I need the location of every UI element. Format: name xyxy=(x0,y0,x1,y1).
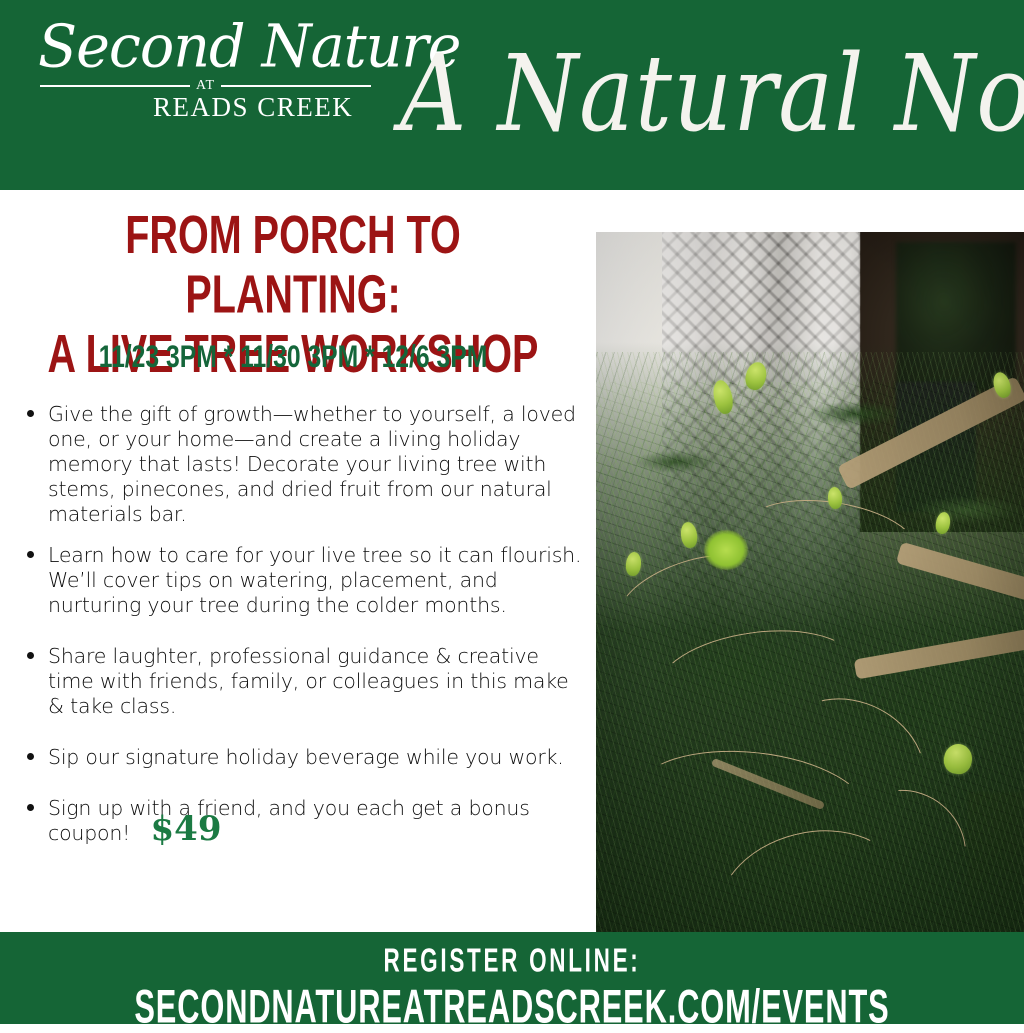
list-item-text: Sign up with a friend, and you each get … xyxy=(48,796,530,845)
bullet-dot-icon xyxy=(27,804,34,811)
tree-photo xyxy=(596,232,1024,932)
list-item-text: Give the gift of growth—whether to yours… xyxy=(48,402,576,526)
event-title-line-1: FROM PORCH TO PLANTING: xyxy=(125,206,461,325)
register-url[interactable]: SECONDNATUREATREADSCREEK.COM/EVENTS xyxy=(61,982,962,1033)
list-item-price: Sign up with a friend, and you each get … xyxy=(18,796,588,846)
list-item-text: Share laughter, professional guidance & … xyxy=(48,644,569,718)
brand-logo-location: READS CREEK xyxy=(153,94,353,121)
list-item: Give the gift of growth—whether to yours… xyxy=(18,402,588,527)
footer-band: REGISTER ONLINE: SECONDNATUREATREADSCREE… xyxy=(0,932,1024,1024)
brand-logo-script: Second Nature xyxy=(38,16,380,79)
bullet-dot-icon xyxy=(27,551,34,558)
event-dates: 11/23 3PM * 11/30 3PM * 12/6 3PM xyxy=(15,338,572,374)
brand-logo-at: AT xyxy=(190,79,221,93)
register-label: REGISTER ONLINE: xyxy=(51,942,973,980)
list-item-text: Learn how to care for your live tree so … xyxy=(48,543,581,617)
campaign-title: A Natural Noel xyxy=(400,20,1010,181)
divider-rule-right xyxy=(221,85,371,87)
bullet-dot-icon xyxy=(27,753,34,760)
content-column: FROM PORCH TO PLANTING: A LIVE TREE WORK… xyxy=(0,190,596,932)
bullet-list: Give the gift of growth—whether to yours… xyxy=(18,402,588,862)
bullet-dot-icon xyxy=(27,410,34,417)
bullet-dot-icon xyxy=(27,652,34,659)
header-band: Second Nature AT READS CREEK A Natural N… xyxy=(0,0,1024,190)
list-item: Learn how to care for your live tree so … xyxy=(18,543,588,618)
price-label: $49 xyxy=(137,809,222,849)
brand-logo: Second Nature AT READS CREEK xyxy=(38,16,373,122)
poster: Second Nature AT READS CREEK A Natural N… xyxy=(0,0,1024,1024)
photo-vignette xyxy=(596,232,1024,932)
list-item: Sip our signature holiday beverage while… xyxy=(18,745,588,770)
list-item-text: Sip our signature holiday beverage while… xyxy=(48,745,564,769)
divider-rule-left xyxy=(40,85,190,87)
list-item: Share laughter, professional guidance & … xyxy=(18,644,588,719)
